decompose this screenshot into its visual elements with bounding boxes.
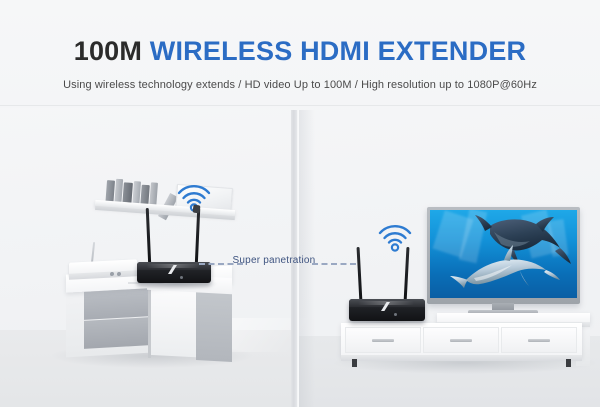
drawer-handle[interactable] <box>450 339 472 342</box>
dolphin-upper <box>475 215 571 264</box>
desk-edge <box>148 286 151 358</box>
tv-screen <box>430 210 577 298</box>
desk-pedestal-side <box>196 290 232 362</box>
title-prefix: 100M <box>74 36 142 66</box>
page-title: 100M WIRELESS HDMI EXTENDER <box>0 36 600 67</box>
transmitter-antenna-joint <box>192 205 200 214</box>
dolphin-lower <box>450 245 560 288</box>
title-main: WIRELESS HDMI EXTENDER <box>150 36 526 66</box>
header-divider-rule <box>0 105 600 106</box>
desk-drawer[interactable] <box>84 317 150 349</box>
stand-bottom-edge <box>341 355 582 361</box>
stand-foot <box>566 359 571 367</box>
stand-foot <box>352 359 357 367</box>
signal-label: Super panetration <box>214 255 334 266</box>
receiver-led <box>394 313 397 316</box>
drawer-handle[interactable] <box>528 339 550 342</box>
page-subtitle: Using wireless technology extends / HD v… <box>0 79 600 91</box>
transmitter-led <box>180 276 183 279</box>
dolphin-graphic <box>430 210 577 298</box>
drawer-handle[interactable] <box>372 339 394 342</box>
desk-drawer[interactable] <box>84 288 150 320</box>
product-banner: 100M WIRELESS HDMI EXTENDER Using wirele… <box>0 0 600 407</box>
